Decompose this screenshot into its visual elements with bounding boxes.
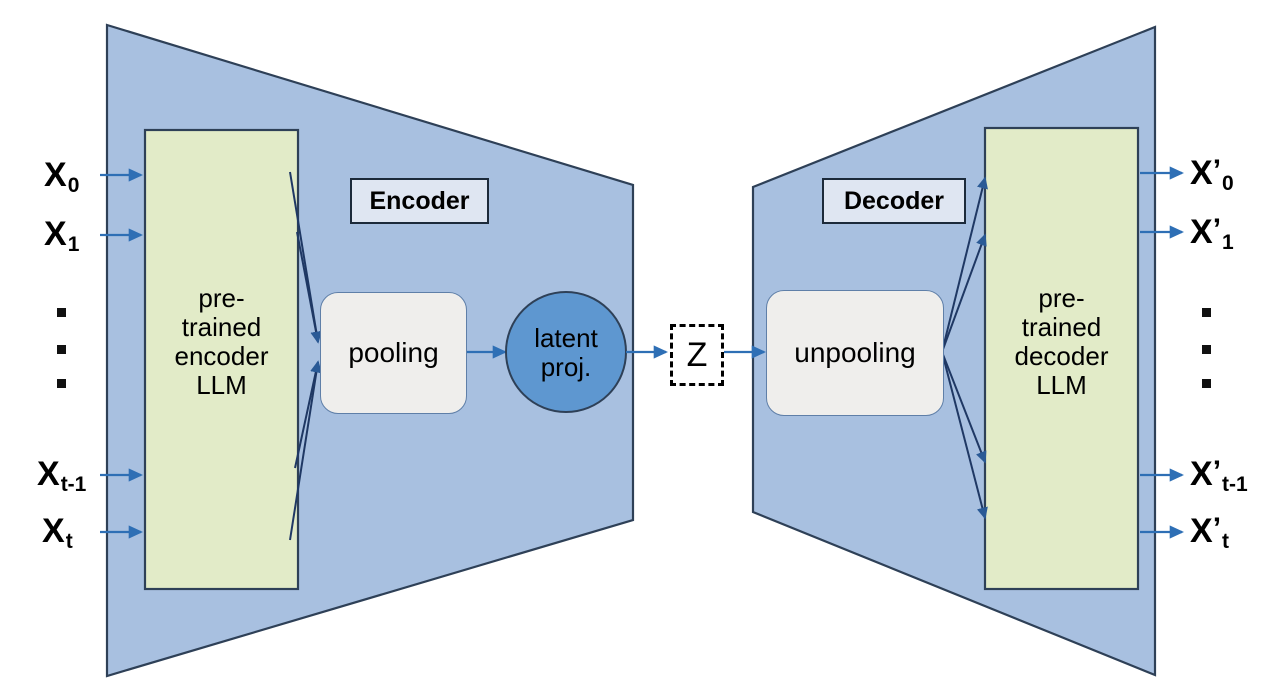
output-sub-0: 0 <box>1222 172 1234 195</box>
input-base-1: X <box>44 215 67 253</box>
input-sub-0: 0 <box>68 174 80 197</box>
input-ellipsis-dot-3 <box>57 379 66 388</box>
pooling-box: pooling <box>320 292 467 414</box>
output-prime-3: ’ <box>1213 512 1221 545</box>
input-label-t: Xt <box>42 514 72 548</box>
output-prime-1: ’ <box>1213 213 1221 246</box>
output-ellipsis-dot-2 <box>1202 345 1211 354</box>
output-base-2: X <box>1190 455 1213 493</box>
latent-projection-label: latent proj. <box>506 322 626 384</box>
input-base-0: X <box>44 156 67 194</box>
input-sub-1: 1 <box>68 233 80 256</box>
input-ellipsis-dot-1 <box>57 308 66 317</box>
input-base-3: X <box>42 512 65 550</box>
output-label-0: X’0 <box>1190 156 1233 190</box>
encoder-label: Encoder <box>350 178 489 224</box>
input-ellipsis-dot-2 <box>57 345 66 354</box>
decoder-llm-text: pre- trained decoder LLM <box>985 284 1138 400</box>
output-label-1: X’1 <box>1190 215 1233 249</box>
output-prime-0: ’ <box>1213 154 1221 187</box>
output-ellipsis-dot-3 <box>1202 379 1211 388</box>
output-sub-2: t-1 <box>1222 473 1248 496</box>
input-sub-2: t-1 <box>61 473 87 496</box>
decoder-label: Decoder <box>822 178 966 224</box>
input-sub-3: t <box>66 530 73 553</box>
output-ellipsis-dot-1 <box>1202 308 1211 317</box>
diagram-canvas: Encoder Decoder pre- trained encoder LLM… <box>0 0 1280 700</box>
output-prime-2: ’ <box>1213 455 1221 488</box>
output-label-t-minus-1: X’t-1 <box>1190 457 1247 491</box>
output-sub-1: 1 <box>1222 231 1234 254</box>
output-label-t: X’t <box>1190 514 1228 548</box>
unpooling-box: unpooling <box>766 290 944 416</box>
input-label-1: X1 <box>44 217 78 251</box>
input-label-t-minus-1: Xt-1 <box>37 457 85 491</box>
output-base-1: X <box>1190 213 1213 251</box>
input-base-2: X <box>37 455 60 493</box>
input-label-0: X0 <box>44 158 78 192</box>
output-base-0: X <box>1190 154 1213 192</box>
output-base-3: X <box>1190 512 1213 550</box>
latent-code-z-box: Z <box>670 324 724 386</box>
encoder-llm-text: pre- trained encoder LLM <box>145 284 298 400</box>
output-sub-3: t <box>1222 530 1229 553</box>
